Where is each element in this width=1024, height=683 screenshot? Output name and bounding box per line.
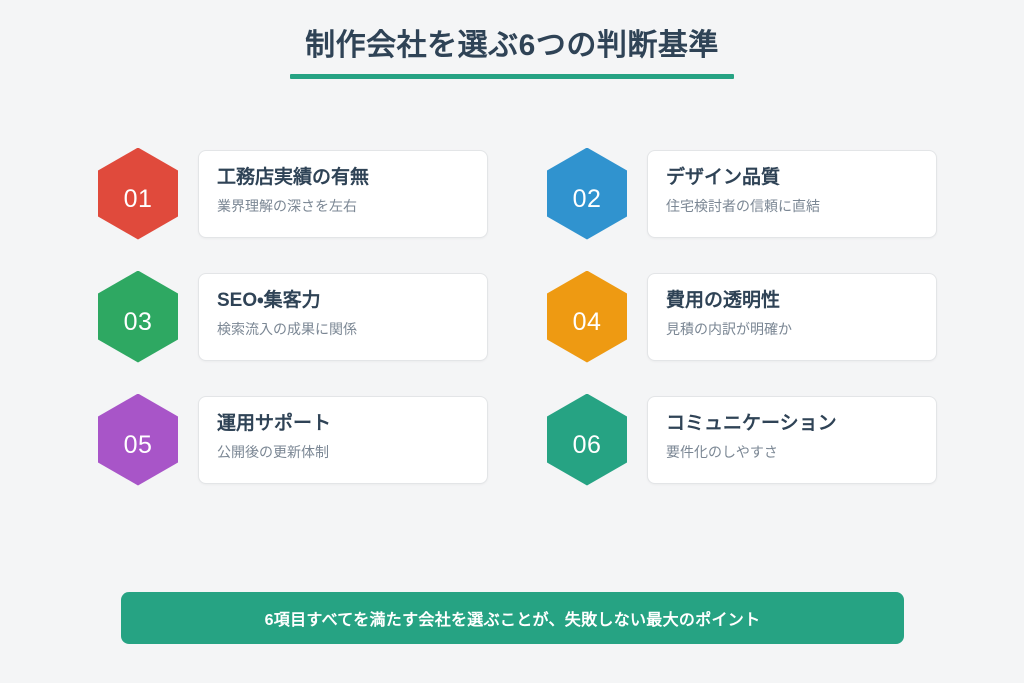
summary-banner: 6項目すべてを満たす会社を選ぶことが、失敗しない最大のポイント xyxy=(121,592,904,644)
criterion-title-06: コミュニケーション xyxy=(666,411,918,437)
header: 制作会社を選ぶ6つの判断基準 xyxy=(0,26,1024,79)
criterion-title-03: SEO・集客力 xyxy=(217,288,469,314)
hexagon-badge-01: 01 xyxy=(98,148,178,240)
criterion-title-02: デザイン品質 xyxy=(666,165,918,191)
criterion-subtitle-01: 業界理解の深さを左右 xyxy=(217,195,469,217)
criterion-title-04: 費用の透明性 xyxy=(666,288,918,314)
hexagon-badge-02: 02 xyxy=(547,148,627,240)
page-title: 制作会社を選ぶ6つの判断基準 xyxy=(0,26,1024,66)
criterion-number-06: 06 xyxy=(573,433,602,458)
hexagon-badge-04: 04 xyxy=(547,271,627,363)
criterion-item-04[interactable]: 04 費用の透明性 見積の内訳が明確か xyxy=(547,269,937,364)
criterion-card-02[interactable]: デザイン品質 住宅検討者の信頼に直結 xyxy=(647,150,937,238)
criterion-number-02: 02 xyxy=(573,187,602,212)
criterion-card-04[interactable]: 費用の透明性 見積の内訳が明確か xyxy=(647,273,937,361)
criterion-subtitle-05: 公開後の更新体制 xyxy=(217,441,469,463)
summary-banner-text: 6項目すべてを満たす会社を選ぶことが、失敗しない最大のポイント xyxy=(265,606,761,630)
criterion-number-03: 03 xyxy=(124,310,153,335)
criterion-card-06[interactable]: コミュニケーション 要件化のしやすさ xyxy=(647,396,937,484)
hexagon-badge-06: 06 xyxy=(547,394,627,486)
criterion-title-05: 運用サポート xyxy=(217,411,469,437)
criterion-card-01[interactable]: 工務店実績の有無 業界理解の深さを左右 xyxy=(198,150,488,238)
criterion-card-05[interactable]: 運用サポート 公開後の更新体制 xyxy=(198,396,488,484)
hexagon-badge-03: 03 xyxy=(98,271,178,363)
criterion-card-03[interactable]: SEO・集客力 検索流入の成果に関係 xyxy=(198,273,488,361)
criterion-item-03[interactable]: 03 SEO・集客力 検索流入の成果に関係 xyxy=(98,269,488,364)
criterion-subtitle-02: 住宅検討者の信頼に直結 xyxy=(666,195,918,217)
criterion-number-05: 05 xyxy=(124,433,153,458)
criterion-title-01: 工務店実績の有無 xyxy=(217,165,469,191)
criteria-grid: 01 工務店実績の有無 業界理解の深さを左右 02 デザイン品質 住宅検討者の信… xyxy=(98,146,934,487)
criterion-item-01[interactable]: 01 工務店実績の有無 業界理解の深さを左右 xyxy=(98,146,488,241)
hexagon-badge-05: 05 xyxy=(98,394,178,486)
criterion-item-06[interactable]: 06 コミュニケーション 要件化のしやすさ xyxy=(547,392,937,487)
criterion-number-01: 01 xyxy=(124,187,153,212)
title-underline xyxy=(290,74,734,79)
criterion-subtitle-04: 見積の内訳が明確か xyxy=(666,318,918,340)
criterion-subtitle-06: 要件化のしやすさ xyxy=(666,441,918,463)
criterion-subtitle-03: 検索流入の成果に関係 xyxy=(217,318,469,340)
criterion-item-02[interactable]: 02 デザイン品質 住宅検討者の信頼に直結 xyxy=(547,146,937,241)
criterion-item-05[interactable]: 05 運用サポート 公開後の更新体制 xyxy=(98,392,488,487)
criterion-number-04: 04 xyxy=(573,310,602,335)
